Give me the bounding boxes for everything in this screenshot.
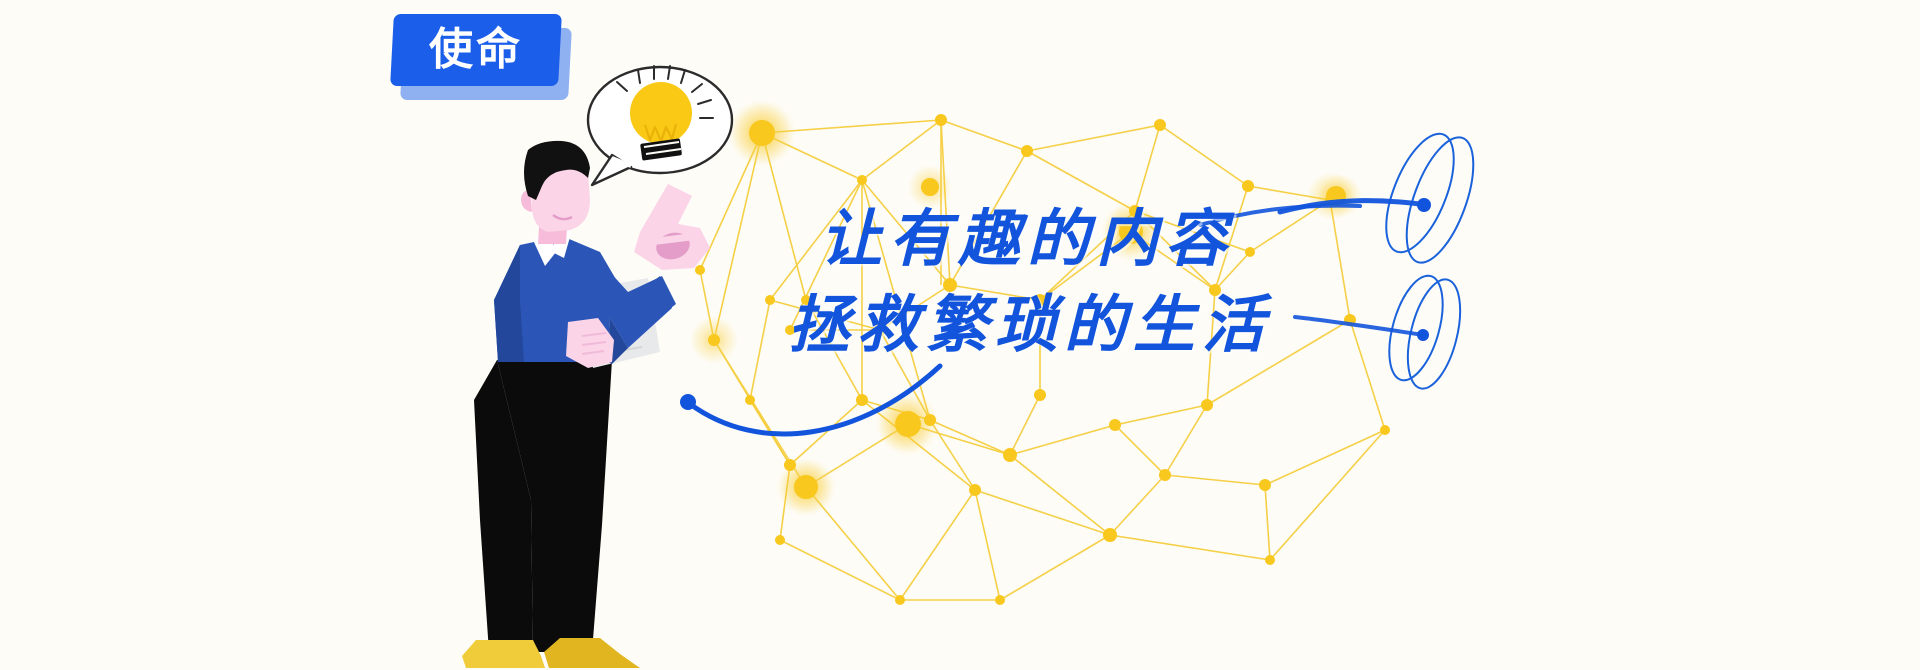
idea-speech-bubble: [588, 66, 732, 185]
headline: 让有趣的内容 拯救繁琐的生活: [820, 196, 1520, 368]
character-trousers: [474, 360, 612, 652]
headline-line-2: 拯救繁琐的生活: [788, 282, 1520, 368]
lightbulb-icon: [630, 82, 692, 144]
badge-label: 使命: [429, 28, 523, 72]
character-head: [521, 141, 590, 232]
mission-badge[interactable]: 使命: [392, 14, 574, 102]
mission-banner: 使命 让有趣的内容 拯救繁琐的生活: [0, 0, 1920, 670]
character-hand-pointing: [634, 184, 710, 270]
headline-line-1: 让有趣的内容: [820, 196, 1520, 282]
badge-body[interactable]: 使命: [390, 14, 562, 86]
